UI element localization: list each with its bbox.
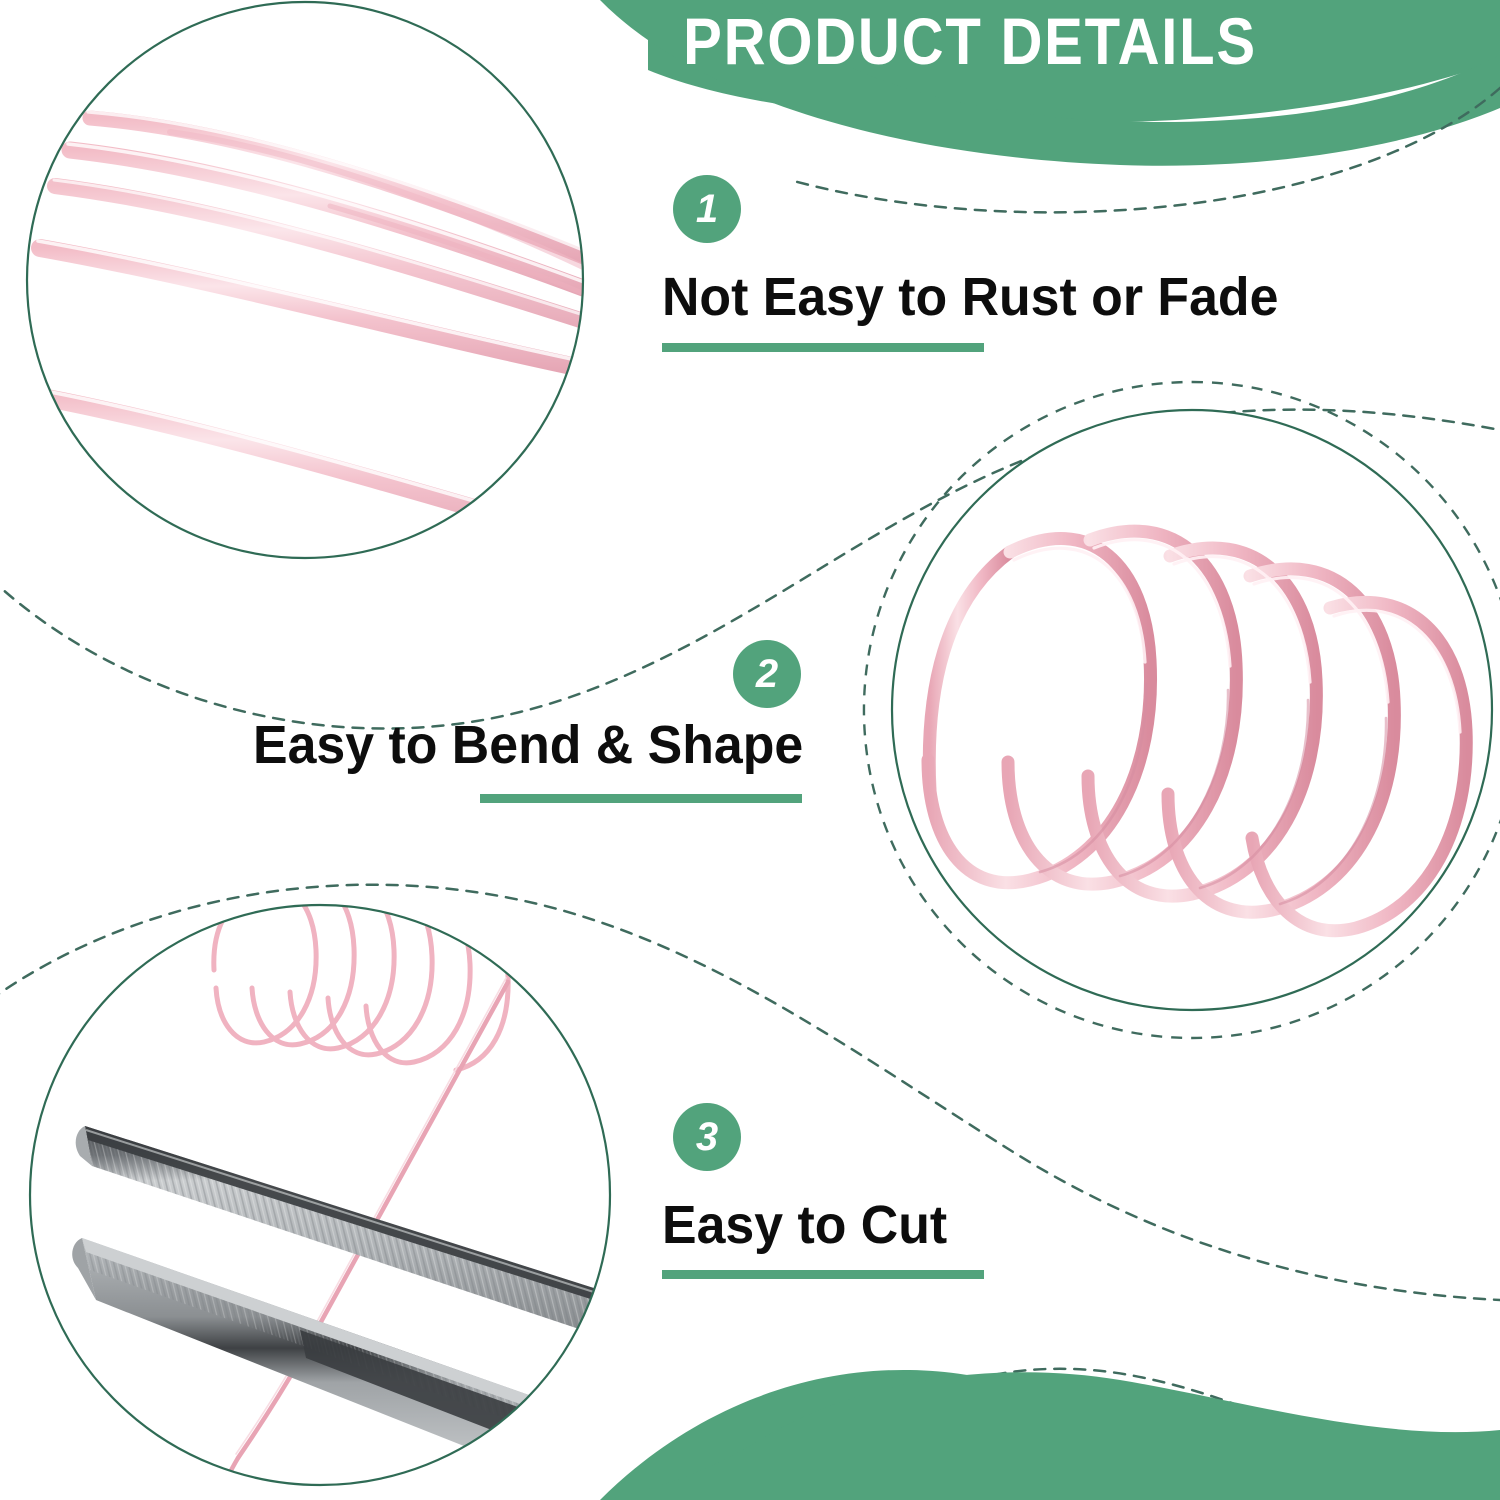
feature-title-1: Not Easy to Rust or Fade <box>662 270 1278 324</box>
content-layer: PRODUCT DETAILS 1 Not Easy to Rust or Fa… <box>0 0 1500 1500</box>
feature-title-2: Easy to Bend & Shape <box>253 718 803 772</box>
feature-title-3: Easy to Cut <box>662 1198 947 1252</box>
page-title: PRODUCT DETAILS <box>680 8 1261 74</box>
feature-badge-3: 3 <box>673 1103 741 1171</box>
infographic-page: PRODUCT DETAILS 1 Not Easy to Rust or Fa… <box>0 0 1500 1500</box>
feature-underline-1 <box>662 343 984 352</box>
feature-underline-3 <box>662 1270 984 1279</box>
feature-badge-1: 1 <box>673 175 741 243</box>
feature-underline-2 <box>480 794 802 803</box>
feature-badge-2: 2 <box>733 640 801 708</box>
